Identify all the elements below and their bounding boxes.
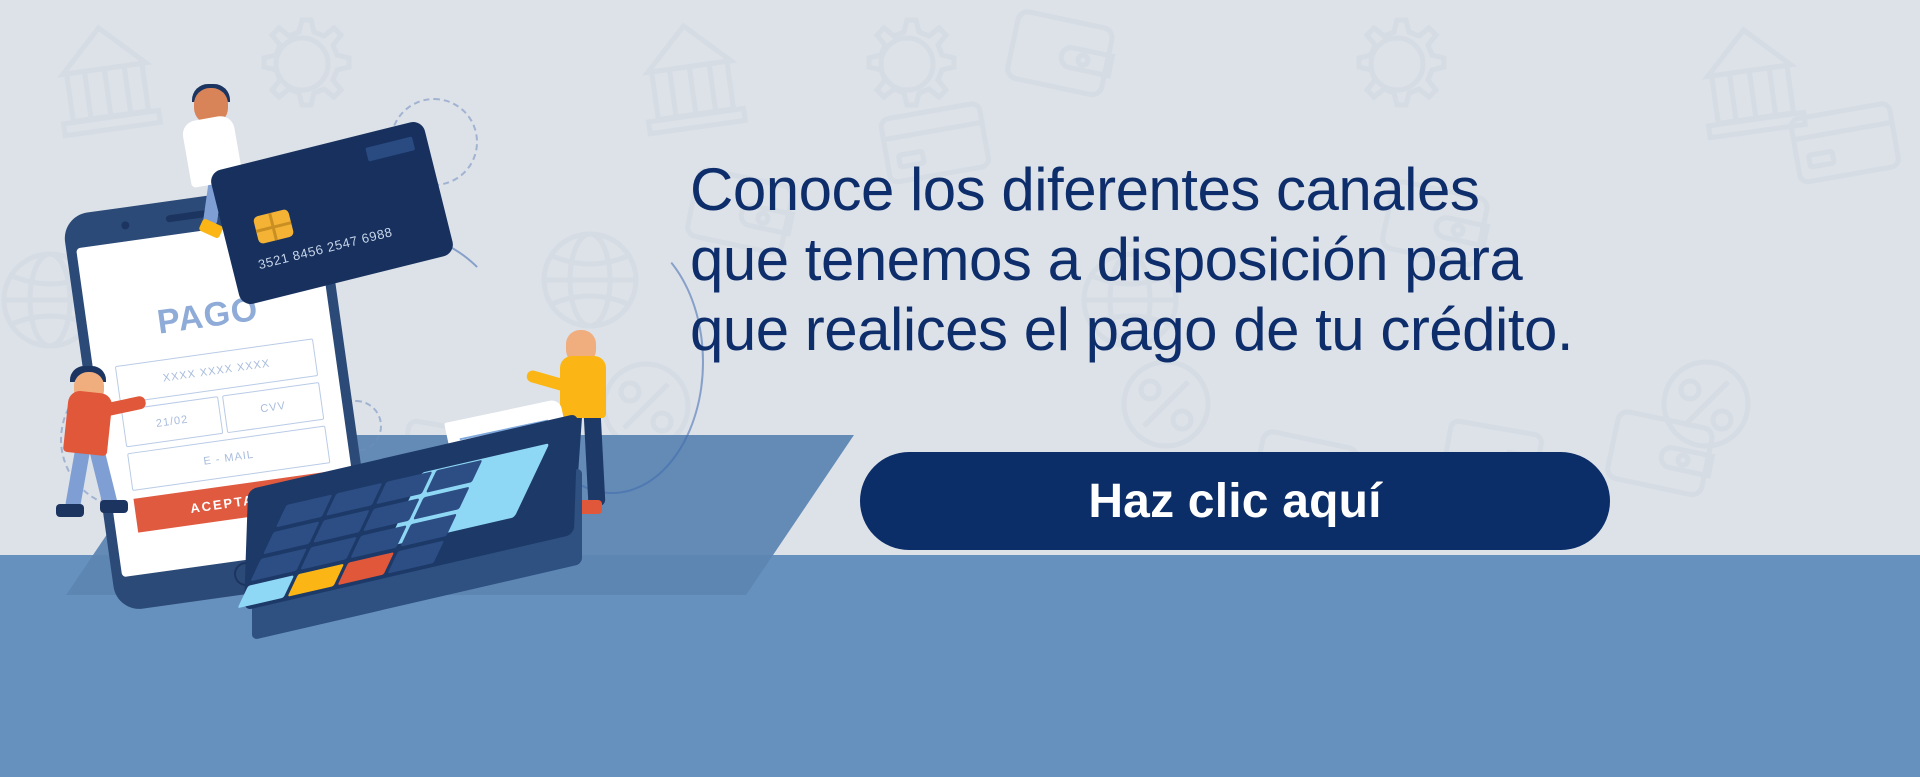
gear-icon [1359, 20, 1444, 105]
cvv-field[interactable]: CVV [222, 382, 324, 433]
character-pusher-shoe [100, 500, 128, 513]
wallet-icon [1006, 10, 1118, 97]
headline-line-1: Conoce los diferentes canales [690, 155, 1800, 225]
character-pusher-body [63, 390, 113, 456]
coins-icon [1124, 362, 1208, 446]
page-title: Conoce los diferentes canales que tenemo… [690, 155, 1800, 365]
payment-illustration: PAGO XXXX XXXX XXXX 21/02 CVV E - MAIL A… [0, 0, 760, 680]
banner-copy: Conoce los diferentes canales que tenemo… [690, 155, 1800, 365]
headline-line-3: que realices el pago de tu crédito. [690, 295, 1800, 365]
coins-icon [1664, 362, 1748, 446]
headline-line-2: que tenemos a disposición para [690, 225, 1800, 295]
haz-clic-aqui-button[interactable]: Haz clic aquí [860, 452, 1610, 550]
card-chip-icon [253, 209, 295, 245]
wallet-icon [1606, 410, 1718, 497]
character-pusher-shoe [56, 504, 84, 517]
card-icon [1790, 103, 1900, 183]
gear-icon [869, 20, 954, 105]
bank-icon [1696, 23, 1805, 137]
phone-camera [121, 221, 130, 230]
card-stripe [365, 136, 415, 161]
payment-channels-banner: PAGO XXXX XXXX XXXX 21/02 CVV E - MAIL A… [0, 0, 1920, 777]
